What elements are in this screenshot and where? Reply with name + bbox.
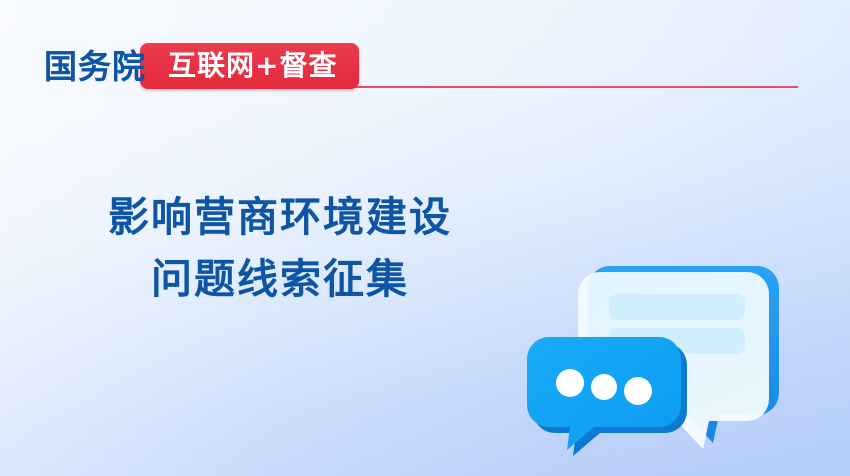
badge-label: 互联网+督查 (168, 52, 337, 80)
page-title: 影响营商环境建设 问题线索征集 (0, 186, 560, 311)
dot-2 (591, 374, 617, 400)
internet-plus-supervision-badge[interactable]: 互联网+督查 (140, 43, 359, 89)
state-council-logo: 国务院 (44, 50, 146, 83)
title-line-1: 影响营商环境建设 (0, 186, 560, 248)
gov-campaign-banner: 国务院 互联网+督查 影响营商环境建设 问题线索征集 (0, 0, 850, 476)
speech-bubbles-illustration: [data-name^="dot-"] { fill: #ffffff; } (505, 238, 850, 476)
banner-header: 国务院 互联网+督查 (44, 40, 359, 92)
dot-3 (624, 377, 652, 405)
dot-1 (556, 369, 584, 397)
header-divider-rule (352, 86, 798, 88)
title-line-2: 问题线索征集 (0, 248, 560, 310)
